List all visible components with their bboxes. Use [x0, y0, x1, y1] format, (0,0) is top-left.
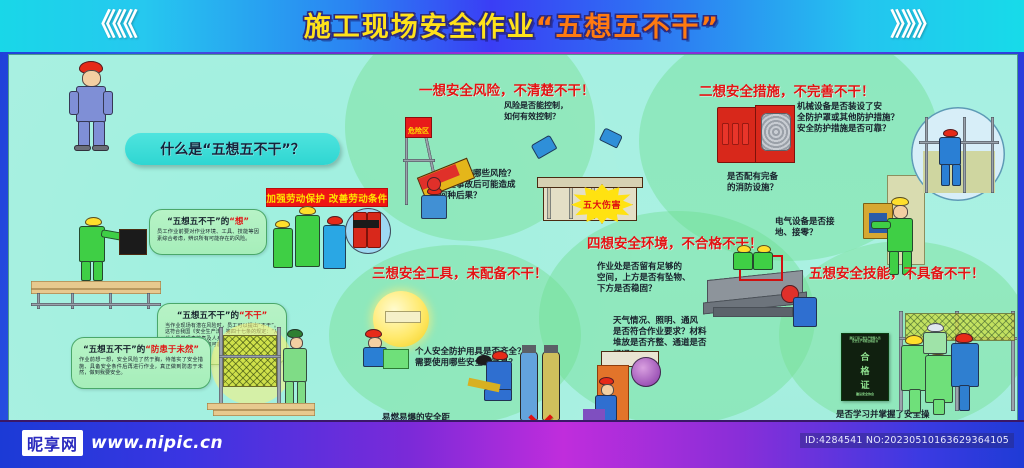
- illustration-scaffold-worker: [911, 107, 1007, 203]
- certificate-bottom-line: 建设安全协会: [842, 392, 888, 396]
- question-fire-equipment: 是否配有完备 的消防设施？: [727, 172, 778, 194]
- info-box-fanghuan-title: “五想五不干”的“防患于未然”: [79, 343, 203, 355]
- certificate-char-ge: 格: [842, 364, 888, 377]
- info-box-xiang-title: “五想五不干”的“想”: [157, 215, 259, 227]
- certificate-char-zheng: 证: [842, 378, 888, 391]
- info-box-bugan-title: “五想五不干”的“不干”: [165, 309, 279, 321]
- question-space-overhead: 作业处是否留有足够的 空间，上方是否有坠物、 下方是否稳固？: [597, 262, 691, 296]
- intro-pill-label: 什么是“五想五不干”？: [160, 139, 304, 159]
- illustration-foreman: [67, 61, 121, 153]
- illustration-collapse-machine: [697, 245, 823, 337]
- footer-bar: 昵享网 www.nipic.cn ID:4284541 NO:202305101…: [0, 420, 1024, 468]
- info-box-fanghuan-title-key: “防患于未然”: [145, 345, 199, 355]
- page-title: 施工现场安全作业“五想五不干”: [0, 5, 1024, 44]
- chevron-right-icon: 》》》: [890, 10, 938, 42]
- illustration-fire-cabinet: [717, 105, 795, 167]
- certificate-illustration: 建设工程三类生产管理人员 安全生产考核合格证书 合 格 证 建设安全协会: [841, 333, 889, 401]
- info-box-xiang-title-key: “想”: [229, 217, 249, 227]
- site-logo: 昵享网: [22, 430, 83, 456]
- five-hazards-burst: 五大伤害: [571, 184, 633, 224]
- certificate-top-line: 建设工程三类生产管理人员 安全生产考核合格证书: [842, 337, 888, 344]
- page-title-main: 施工现场安全作业: [304, 12, 536, 43]
- danger-zone-sign: 危险区: [405, 117, 432, 138]
- question-risk-control: 风险是否能控制， 如何有效控制？: [504, 101, 568, 122]
- section-title-skills: 五想安全技能，不具备不干！: [809, 262, 985, 282]
- info-box-xiang-body: 员工作业前要对作业环境、工具、技能等因素综合考虑，辨识所有可能存在的风险。: [157, 229, 259, 242]
- info-box-fanghuan-title-prefix: “五想五不干”的: [83, 345, 145, 355]
- info-box-fanghuan-body: 作业前想一想，安全风险了然于胸，待落实了安全措施、具备安全条件后再进行作业，真正…: [79, 357, 203, 377]
- illustration-ppe-bulb: [357, 291, 449, 369]
- illustration-worker-crowd: [899, 311, 1018, 417]
- illustration-mesh-guard: [205, 323, 321, 419]
- info-box-xiang: “五想五不干”的“想” 员工作业前要对作业环境、工具、技能等因素综合考虑，辨识所…: [149, 209, 267, 255]
- page-title-highlight: “五想五不干”: [536, 12, 721, 43]
- site-brand[interactable]: 昵享网 www.nipic.cn: [22, 430, 223, 456]
- site-url[interactable]: www.nipic.cn: [91, 433, 223, 453]
- five-hazards-label: 五大伤害: [571, 184, 633, 224]
- info-box-fanghuan: “五想五不干”的“防患于未然” 作业前想一想，安全风险了然于胸，待落实了安全措施…: [71, 337, 211, 389]
- question-grounding: 电气设备是否接 地、接零？: [775, 217, 835, 239]
- illustration-press-machine: [583, 351, 669, 424]
- info-box-bugan-title-prefix: “五想五不干”的: [177, 311, 239, 321]
- section-title-risk: 一想安全风险，不清楚不干！: [419, 79, 595, 99]
- info-box-bugan-title-key: “不干”: [239, 311, 267, 321]
- poster-root: 《《《 施工现场安全作业“五想五不干” 》》》 什么是“五想五不干”？: [0, 0, 1024, 468]
- asset-id-tag: ID:4284541 NO:20230510163629364105: [800, 433, 1014, 448]
- illustration-welder-bridge: [31, 215, 161, 311]
- question-machine-guard: 机械设备是否装设了安 全防护罩或其他防护措施？ 安全防护措施是否可靠？: [797, 102, 899, 136]
- certificate-char-he: 合: [842, 350, 888, 363]
- section-title-measures: 二想安全措施，不完善不干！: [699, 80, 875, 100]
- info-box-xiang-title-prefix: “五想五不干”的: [167, 217, 229, 227]
- intro-pill: 什么是“五想五不干”？: [125, 133, 340, 165]
- section-title-tools: 三想安全工具，未配备不干！: [372, 262, 548, 282]
- danger-zone-label: 危险区: [408, 127, 429, 135]
- header-banner: 《《《 施工现场安全作业“五想五不干” 》》》: [0, 0, 1024, 52]
- poster-canvas: 什么是“五想五不干”？ 加强劳动保护 改善劳动条件 “五想五不干”的“想” 员工…: [8, 54, 1018, 424]
